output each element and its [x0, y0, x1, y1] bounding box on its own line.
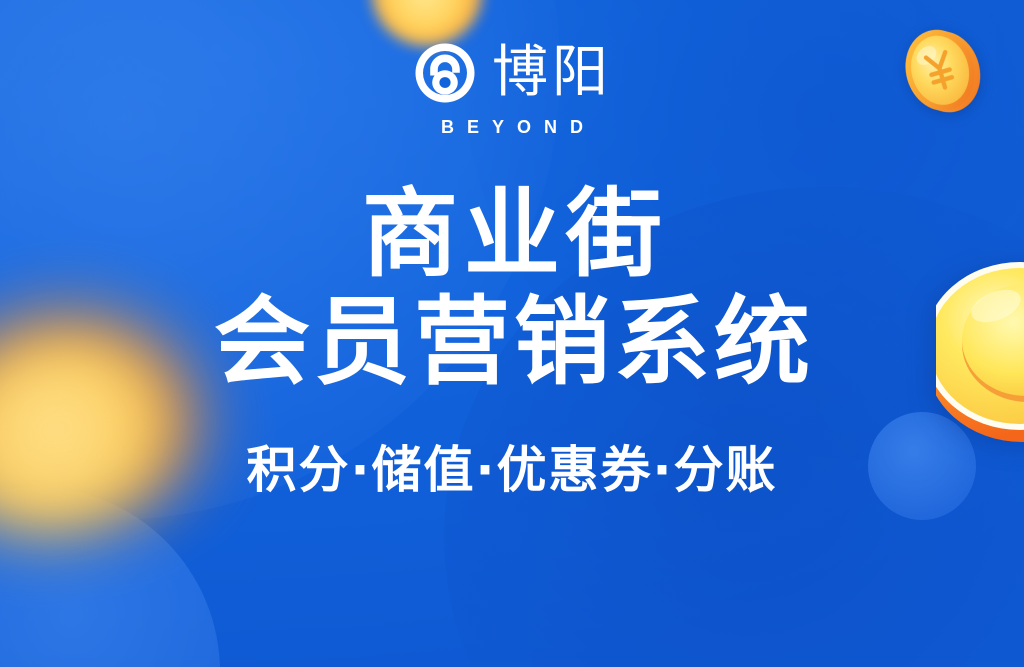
page-title: 商业街 会员营销系统	[210, 184, 814, 394]
feature-subtitle: 积分·储值·优惠券·分账	[247, 430, 778, 502]
brand-lockup: 博阳 BEYOND	[412, 40, 612, 138]
beyond-logo-icon	[412, 40, 478, 106]
banner-content: 博阳 BEYOND 商业街 会员营销系统 积分·储值·优惠券·分账	[0, 0, 1024, 667]
headline-line-2: 会员营销系统	[210, 292, 814, 394]
brand-logo-row: 博阳	[412, 40, 612, 106]
brand-name-en: BEYOND	[428, 117, 596, 138]
brand-name-cn: 博阳	[492, 45, 612, 101]
headline-line-1: 商业街	[210, 184, 814, 286]
promo-banner: 博阳 BEYOND 商业街 会员营销系统 积分·储值·优惠券·分账	[0, 0, 1024, 667]
